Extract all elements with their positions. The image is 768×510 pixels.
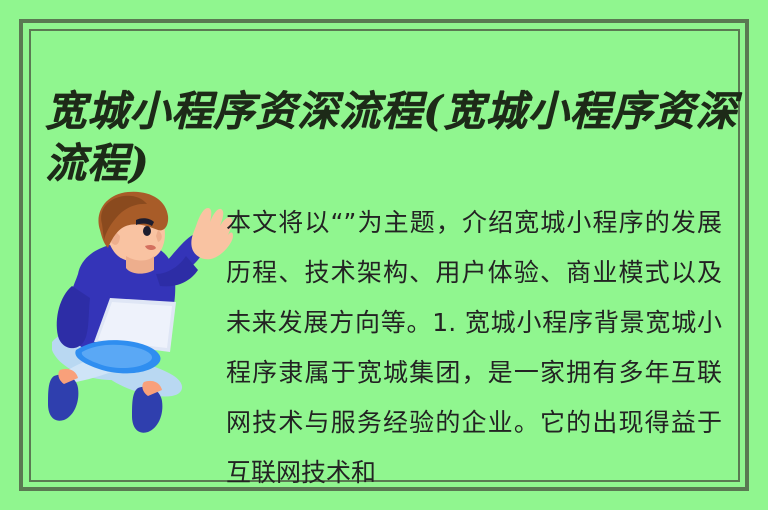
- page-title: 宽城小程序资深流程(宽城小程序资深流程): [45, 85, 745, 189]
- body-paragraph: 本文将以“”为主题，介绍宽城小程序的发展历程、技术架构、用户体验、商业模式以及未…: [226, 198, 722, 498]
- poster-canvas: 宽城小程序资深流程(宽城小程序资深流程): [0, 0, 768, 510]
- illustration-man-with-laptop: [48, 190, 233, 440]
